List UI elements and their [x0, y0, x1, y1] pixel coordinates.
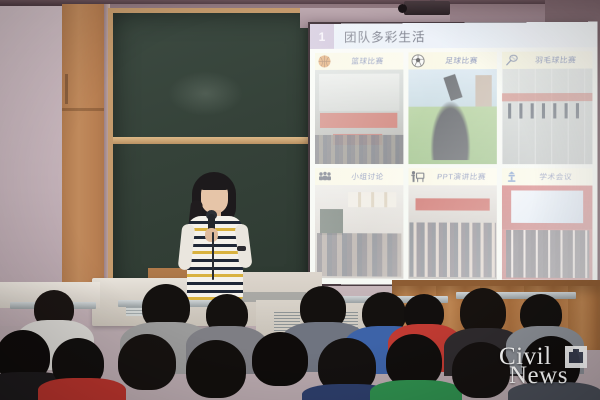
- card-header: 小组讨论: [315, 168, 403, 185]
- card-photo: [502, 69, 592, 164]
- projection-screen: 1 团队多彩生活: [310, 22, 598, 287]
- slide-body: 篮球比赛: [310, 47, 598, 286]
- basketball-icon: [317, 54, 332, 69]
- slide-card-basketball: 篮球比赛: [315, 52, 403, 163]
- wooden-door-panel: [62, 4, 110, 304]
- wristwatch-icon: [237, 246, 246, 251]
- card-photo: [315, 185, 403, 279]
- card-header: PPT演讲比赛: [408, 168, 497, 185]
- projector-lens-icon: [398, 4, 407, 13]
- slide-card-academic-conference: 学术会议: [502, 168, 592, 281]
- chalk-rail: [113, 137, 315, 144]
- card-photo: [408, 69, 497, 164]
- audience-head: [186, 340, 246, 398]
- card-photo: [502, 185, 592, 280]
- audience-shoulders: [370, 380, 462, 400]
- projection-screen-frame: 1 团队多彩生活: [308, 22, 595, 286]
- audience-head: [118, 334, 176, 390]
- presentation-slide: 1 团队多彩生活: [310, 22, 598, 287]
- slide-title: 团队多彩生活: [344, 26, 426, 46]
- projector: [404, 1, 450, 15]
- slide-card-ppt-contest: PPT演讲比赛: [408, 168, 497, 280]
- football-icon: [410, 53, 425, 68]
- card-label: 学术会议: [519, 171, 593, 182]
- group-discussion-icon: [317, 169, 332, 184]
- watermark-line-2: News: [509, 365, 568, 386]
- left-wall: [0, 6, 64, 306]
- chalk-smudge: [168, 71, 243, 116]
- card-label: PPT演讲比赛: [425, 171, 498, 182]
- audience-shoulders: [38, 378, 126, 400]
- card-header: 学术会议: [502, 168, 592, 185]
- watermark: Civil News: [497, 344, 595, 392]
- badminton-racket-icon: [504, 53, 519, 68]
- door-handle: [65, 74, 68, 104]
- slide-header: 1 团队多彩生活: [310, 22, 598, 49]
- conference-icon: [504, 169, 519, 184]
- presenter-icon: [410, 169, 425, 184]
- audience-head: [252, 332, 308, 386]
- slide-number-badge: 1: [310, 24, 334, 49]
- slide-card-group-discussion: 小组讨论: [315, 168, 403, 279]
- slide-row: 篮球比赛: [315, 51, 592, 163]
- slide-card-football: 足球比赛: [408, 52, 497, 164]
- slide-row: 小组讨论: [315, 168, 592, 281]
- card-label: 小组讨论: [331, 171, 403, 182]
- card-label: 羽毛球比赛: [519, 54, 593, 66]
- card-photo: [315, 70, 403, 164]
- speaker-fringe: [199, 177, 230, 190]
- card-header: 足球比赛: [408, 52, 497, 70]
- card-label: 篮球比赛: [331, 55, 403, 66]
- camera-icon: [565, 346, 587, 368]
- card-header: 羽毛球比赛: [502, 51, 592, 69]
- card-photo: [408, 185, 497, 280]
- microphone-cord: [212, 232, 214, 280]
- lecture-hall-photo: 1 团队多彩生活: [0, 0, 600, 400]
- card-header: 篮球比赛: [315, 52, 403, 70]
- card-label: 足球比赛: [425, 55, 498, 67]
- slide-card-badminton: 羽毛球比赛: [502, 51, 592, 163]
